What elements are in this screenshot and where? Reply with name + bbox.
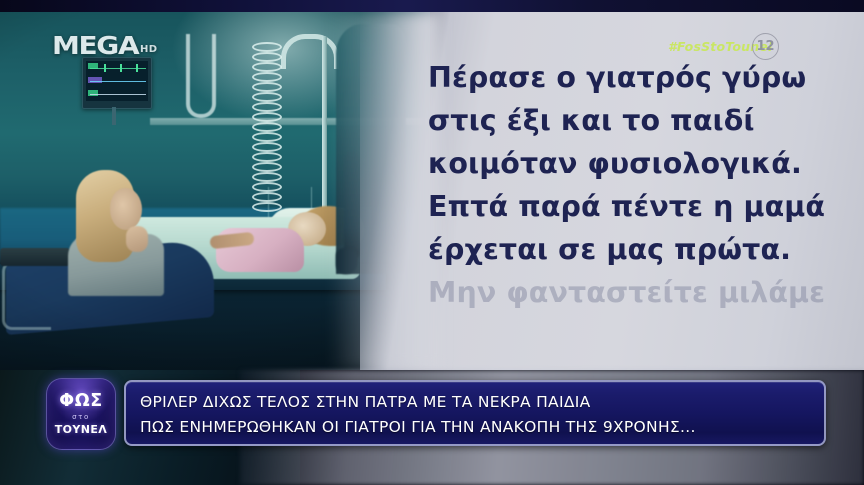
subtitle-block: Πέρασε ο γιατρός γύρω στις έξι και το πα… (428, 56, 848, 314)
show-logo-badge: ΦΩΣ στο ΤΟΥΝΕΛ (46, 378, 116, 450)
top-letterbox-bar (0, 0, 864, 12)
news-ticker-banner: ΘΡΙΛΕΡ ΔΙΧΩΣ ΤΕΛΟΣ ΣΤΗΝ ΠΑΤΡΑ ΜΕ ΤΑ ΝΕΚΡ… (124, 380, 826, 446)
spo2-waveform (90, 81, 146, 82)
ecg-spike (136, 64, 138, 72)
seated-woman-hand (126, 226, 148, 252)
iv-pole-hook (281, 34, 339, 69)
subtitle-line: έρχεται σε μας πρώτα. (428, 228, 848, 271)
monitor-screen (86, 61, 148, 101)
show-title-connector: στο (72, 414, 90, 421)
channel-logo-text: MEGA (52, 33, 138, 58)
channel-logo: MEGA HD (52, 33, 157, 58)
vital-signs-monitor-icon (82, 57, 152, 109)
ticker-headline-secondary: ΠΩΣ ΕΝΗΜΕΡΩΘΗΚΑΝ ΟΙ ΓΙΑΤΡΟΙ ΓΙΑ ΤΗΝ ΑΝΑΚ… (140, 415, 824, 440)
ecg-spike (120, 64, 122, 72)
iv-pole (322, 36, 327, 226)
monitor-mount (112, 107, 116, 125)
subtitle-line: στις έξι και το παιδί (428, 99, 848, 142)
tv-broadcast-screen: MEGA HD #FosStoTounel 12 Πέρασε ο γιατρό… (0, 0, 864, 485)
subtitle-line: κοιμόταν φυσιολογικά. (428, 142, 848, 185)
subtitle-line: Επτά παρά πέντε η μαμά (428, 185, 848, 228)
monitor-trace-spo2 (86, 75, 148, 88)
subtitle-line-fading: Μην φανταστείτε μιλάμε (428, 271, 848, 314)
seated-woman-face (110, 188, 142, 230)
standing-person-hand (336, 248, 358, 274)
channel-quality-label: HD (140, 45, 157, 55)
chair (0, 248, 70, 266)
monitor-trace-ecg (86, 61, 148, 74)
ticker-headline-primary: ΘΡΙΛΕΡ ΔΙΧΩΣ ΤΕΛΟΣ ΣΤΗΝ ΠΑΤΡΑ ΜΕ ΤΑ ΝΕΚΡ… (140, 390, 824, 415)
hanging-hose (186, 34, 216, 118)
bed-side-rail (2, 258, 51, 330)
standing-person-arm (344, 152, 360, 260)
show-title-main: ΦΩΣ (59, 393, 103, 411)
subtitle-line: Πέρασε ο γιατρός γύρω (428, 56, 848, 99)
resp-waveform (90, 94, 146, 95)
ecg-spike (104, 64, 106, 72)
monitor-trace-resp (86, 88, 148, 101)
broadcast-stage: MEGA HD #FosStoTounel 12 Πέρασε ο γιατρό… (0, 12, 864, 370)
show-title-second: ΤΟΥΝΕΛ (55, 424, 107, 435)
